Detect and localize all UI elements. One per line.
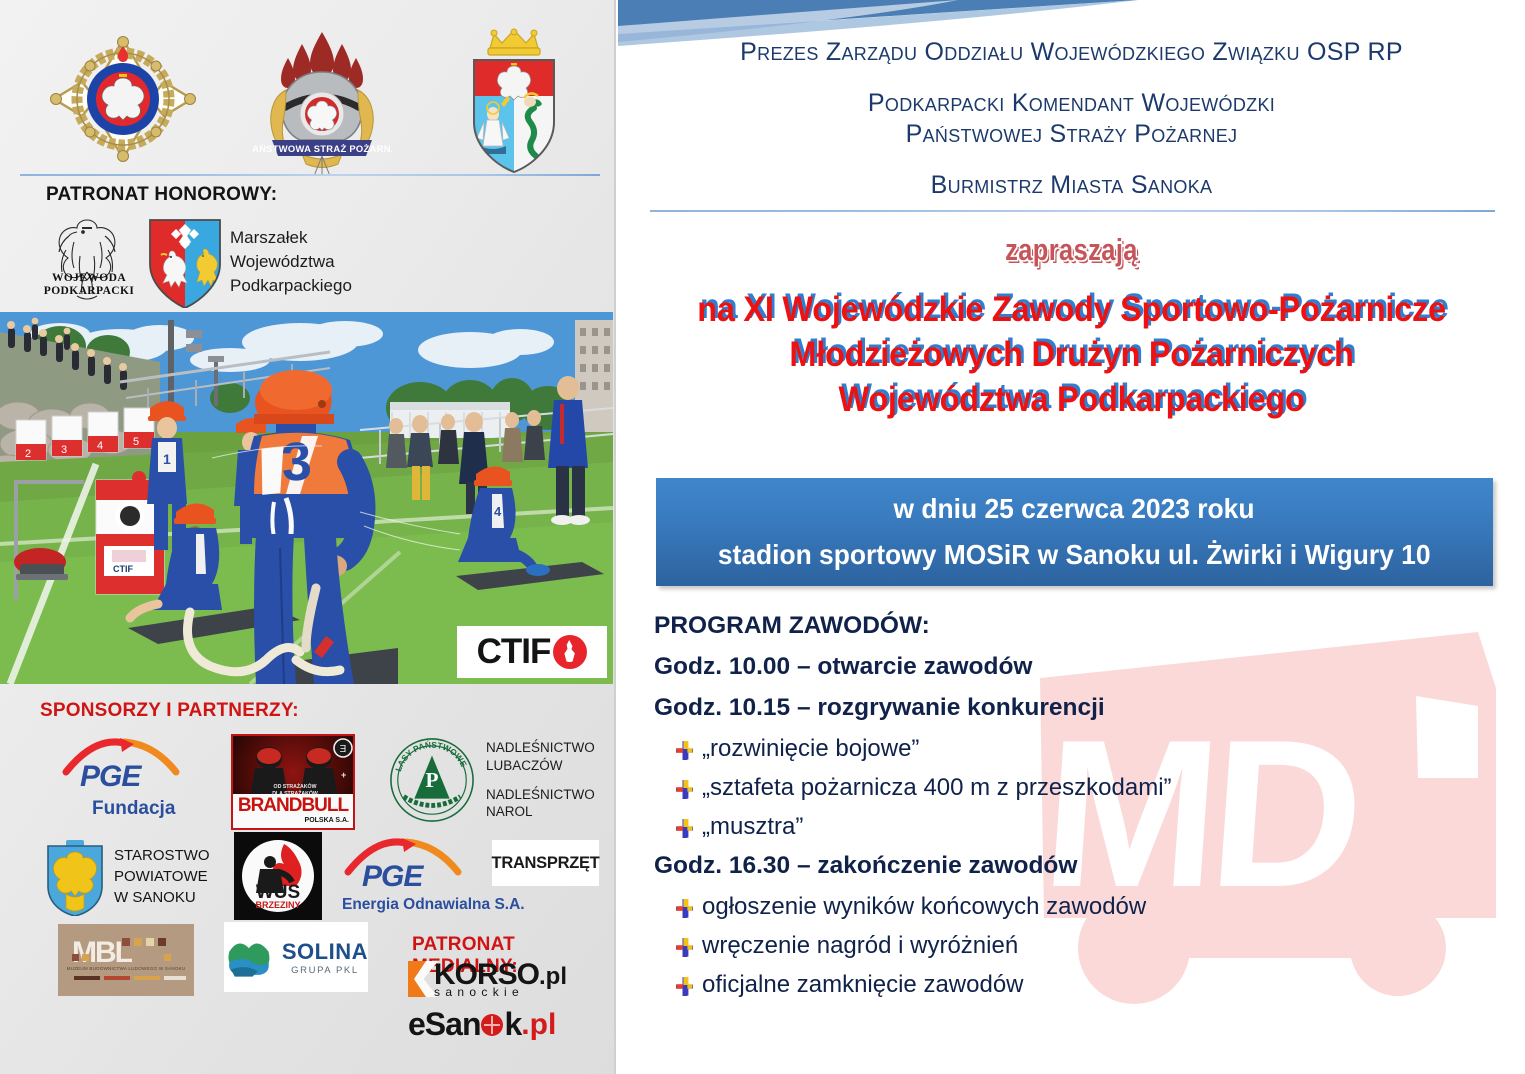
transprzet-wordmark: TRANSPRZĘT	[492, 854, 600, 873]
starostwo-line3: W SANOKU	[114, 887, 210, 908]
lasy-panstwowe-icon: P LASY PAŃSTWOWE	[388, 736, 476, 824]
brandbull-sub: POLSKA S.A.	[233, 817, 349, 824]
program-event-label: „sztafeta pożarnicza 400 m z przeszkodam…	[702, 774, 1172, 802]
program-closing-label: oficjalne zamknięcie zawodów	[702, 971, 1024, 999]
event-details-box: w dniu 25 czerwca 2023 roku stadion spor…	[656, 478, 1493, 586]
brandbull-inner-slogan: OD STRAŻAKÓW	[274, 782, 317, 790]
pge-fundacja-sub: Fundacja	[92, 798, 175, 820]
program-closing-item: oficjalne zamknięcie zawodów	[654, 971, 1514, 999]
program-event-label: „musztra”	[702, 813, 803, 841]
competition-photo: 2 3 4 5	[0, 312, 613, 684]
left-sidebar-panel: PAŃSTWOWA STRAŻ POŻARNA	[0, 0, 616, 1074]
program-opening: Godz. 10.00 – otwarcie zawodów	[654, 653, 1514, 681]
solina-mountains-icon	[224, 932, 274, 982]
nadlesnictwo-narol-2: NAROL	[486, 803, 595, 820]
event-title: na XI Wojewódzkie Zawody Sportowo-Pożarn…	[618, 288, 1525, 422]
svg-text:4: 4	[494, 504, 502, 519]
svg-text:3: 3	[280, 431, 313, 492]
program-closing-item: ogłoszenie wyników końcowych zawodów	[654, 893, 1514, 921]
svg-text:2: 2	[25, 448, 31, 460]
program-section: PROGRAM ZAWODÓW: Godz. 10.00 – otwarcie …	[654, 612, 1514, 1010]
solina-wordmark: SOLINA	[282, 939, 368, 965]
event-title-line-3: Województwa Podkarpackiego	[650, 378, 1494, 423]
marszalek-line1: Marszałek	[230, 226, 352, 250]
program-event-item: „musztra”	[654, 813, 1514, 841]
sponsor-mbl: MBL	[58, 924, 194, 996]
svg-text:PAŃSTWOWA STRAŻ POŻARNA: PAŃSTWOWA STRAŻ POŻARNA	[252, 143, 392, 154]
sponsor-lasy-panstwowe: P LASY PAŃSTWOWE NADLEŚNICTWO LUBACZÓW N…	[388, 736, 595, 824]
authorities-header: Prezes Zarządu Oddziału Wojewódzkiego Zw…	[638, 38, 1505, 200]
svg-text:5: 5	[133, 436, 139, 448]
media-partner-esanok: eSan k .pl	[408, 1006, 556, 1043]
wus-sub: BRZEZINY	[256, 900, 301, 910]
header-divider	[650, 210, 1495, 212]
brandbull-wordmark: BRANDBULL	[233, 795, 353, 817]
pge-wordmark: PGE	[80, 760, 140, 794]
marszalek-line2: Województwa	[230, 250, 352, 274]
nadlesnictwo-lubaczow-2: LUBACZÓW	[486, 757, 595, 774]
sidebar-divider	[20, 174, 600, 176]
nadlesnictwo-narol-1: NADLEŚNICTWO	[486, 786, 595, 803]
esanok-part1: eSan	[408, 1006, 480, 1043]
svg-text:P: P	[425, 768, 438, 792]
marszalek-line3: Podkarpackiego	[230, 274, 352, 298]
cross-bullet-icon	[676, 819, 693, 838]
svg-text:CTIF: CTIF	[113, 564, 133, 574]
sanok-coat-of-arms	[460, 22, 568, 174]
sponsor-transprzet: TRANSPRZĘT	[492, 840, 599, 886]
header-line-4: Burmistrz Miasta Sanoka	[638, 171, 1505, 200]
panstwowa-straz-pozarna-emblem: PAŃSTWOWA STRAŻ POŻARNA	[252, 28, 392, 178]
zosp-rp-emblem	[48, 34, 198, 164]
program-closing-label: ogłoszenie wyników końcowych zawodów	[702, 893, 1146, 921]
marszalek-label: Marszałek Województwa Podkarpackiego	[230, 226, 352, 298]
emblem-row: PAŃSTWOWA STRAŻ POŻARNA	[0, 14, 616, 166]
sponsor-pge-fundacja: PGE Fundacja	[62, 736, 182, 808]
program-closing-heading: Godz. 16.30 – zakończenie zawodów	[654, 852, 1514, 880]
sponsor-starostwo-powiatowe: STAROSTWO POWIATOWE W SANOKU	[44, 836, 210, 916]
wojewoda-line2: PODKARPACKI	[44, 285, 134, 297]
cross-bullet-icon	[676, 899, 693, 918]
event-date: w dniu 25 czerwca 2023 roku	[894, 493, 1255, 525]
cross-bullet-icon	[676, 780, 693, 799]
esanok-part2: k	[504, 1006, 521, 1043]
program-events-heading: Godz. 10.15 – rozgrywanie konkurencji	[654, 694, 1514, 722]
sponsor-pge-energia-odnawialna: PGE Energia Odnawialna S.A.	[344, 836, 500, 908]
program-closing-item: wręczenie nagród i wyróżnień	[654, 932, 1514, 960]
esanok-tld: .pl	[521, 1008, 556, 1042]
ctif-logo-badge: CTIF	[457, 626, 607, 678]
media-partner-korso: KORSO.pl s a n o c k i e	[406, 958, 567, 999]
invite-word: zapraszają	[700, 232, 1444, 268]
panel-border	[614, 0, 616, 1074]
sponsor-brandbull: Ǝ OD STRAŻAKÓW DLA STRAŻAKÓW + BRANDBULL…	[231, 734, 355, 830]
cross-bullet-icon	[676, 977, 693, 996]
globe-icon	[481, 1014, 503, 1036]
header-line-2: Podkarpacki Komendant Wojewódzki	[638, 89, 1505, 118]
pge-eo-wordmark: PGE	[362, 860, 422, 894]
event-venue: stadion sportowy MOSiR w Sanoku ul. Żwir…	[718, 539, 1431, 571]
ctif-label: CTIF	[477, 632, 551, 672]
starostwo-line2: POWIATOWE	[114, 866, 210, 887]
wojewoda-line1: WOJEWODA	[52, 272, 126, 284]
pge-eo-sub: Energia Odnawialna S.A.	[342, 896, 525, 914]
flame-icon	[553, 635, 587, 669]
sanok-county-shield-icon	[44, 836, 106, 916]
program-event-label: „rozwinięcie bojowe”	[702, 735, 919, 763]
nadlesnictwo-lubaczow-1: NADLEŚNICTWO	[486, 739, 595, 756]
cross-bullet-icon	[676, 741, 693, 760]
korso-tld: .pl	[539, 963, 567, 990]
solina-sub: GRUPA PKL	[282, 965, 368, 976]
event-title-line-2: Młodzieżowych Drużyn Pożarniczych	[650, 333, 1494, 378]
program-event-item: „rozwinięcie bojowe”	[654, 735, 1514, 763]
podkarpackie-voivodeship-coat-of-arms	[146, 216, 224, 308]
patronat-honorowy-title: PATRONAT HONOROWY:	[46, 184, 277, 206]
header-line-3: Państwowej Straży Pożarnej	[638, 120, 1505, 149]
sponsor-wus-brzeziny: WUS BRZEZINY	[234, 832, 322, 920]
sponsors-title: SPONSORZY I PARTNERZY:	[40, 700, 299, 722]
wojewoda-podkarpacki-label: WOJEWODA PODKARPACKI	[30, 272, 148, 298]
program-heading: PROGRAM ZAWODÓW:	[654, 612, 1514, 640]
sponsor-solina: SOLINA GRUPA PKL	[224, 922, 368, 992]
event-title-line-1: na XI Wojewódzkie Zawody Sportowo-Pożarn…	[650, 288, 1494, 333]
svg-text:3: 3	[61, 444, 67, 456]
svg-text:4: 4	[97, 440, 103, 452]
svg-text:+: +	[341, 770, 346, 780]
starostwo-line1: STAROSTWO	[114, 845, 210, 866]
program-event-item: „sztafeta pożarnicza 400 m z przeszkodam…	[654, 774, 1514, 802]
program-closing-label: wręczenie nagród i wyróżnień	[702, 932, 1018, 960]
mbl-sub: MUZEUM BUDOWNICTWA LUDOWEGO W SANOKU	[64, 966, 188, 971]
header-line-1: Prezes Zarządu Oddziału Wojewódzkiego Zw…	[638, 38, 1505, 67]
svg-text:1: 1	[163, 451, 171, 467]
svg-text:Ǝ: Ǝ	[340, 744, 347, 755]
poster-root: PAŃSTWOWA STRAŻ POŻARNA	[0, 0, 1525, 1074]
cross-bullet-icon	[676, 938, 693, 957]
